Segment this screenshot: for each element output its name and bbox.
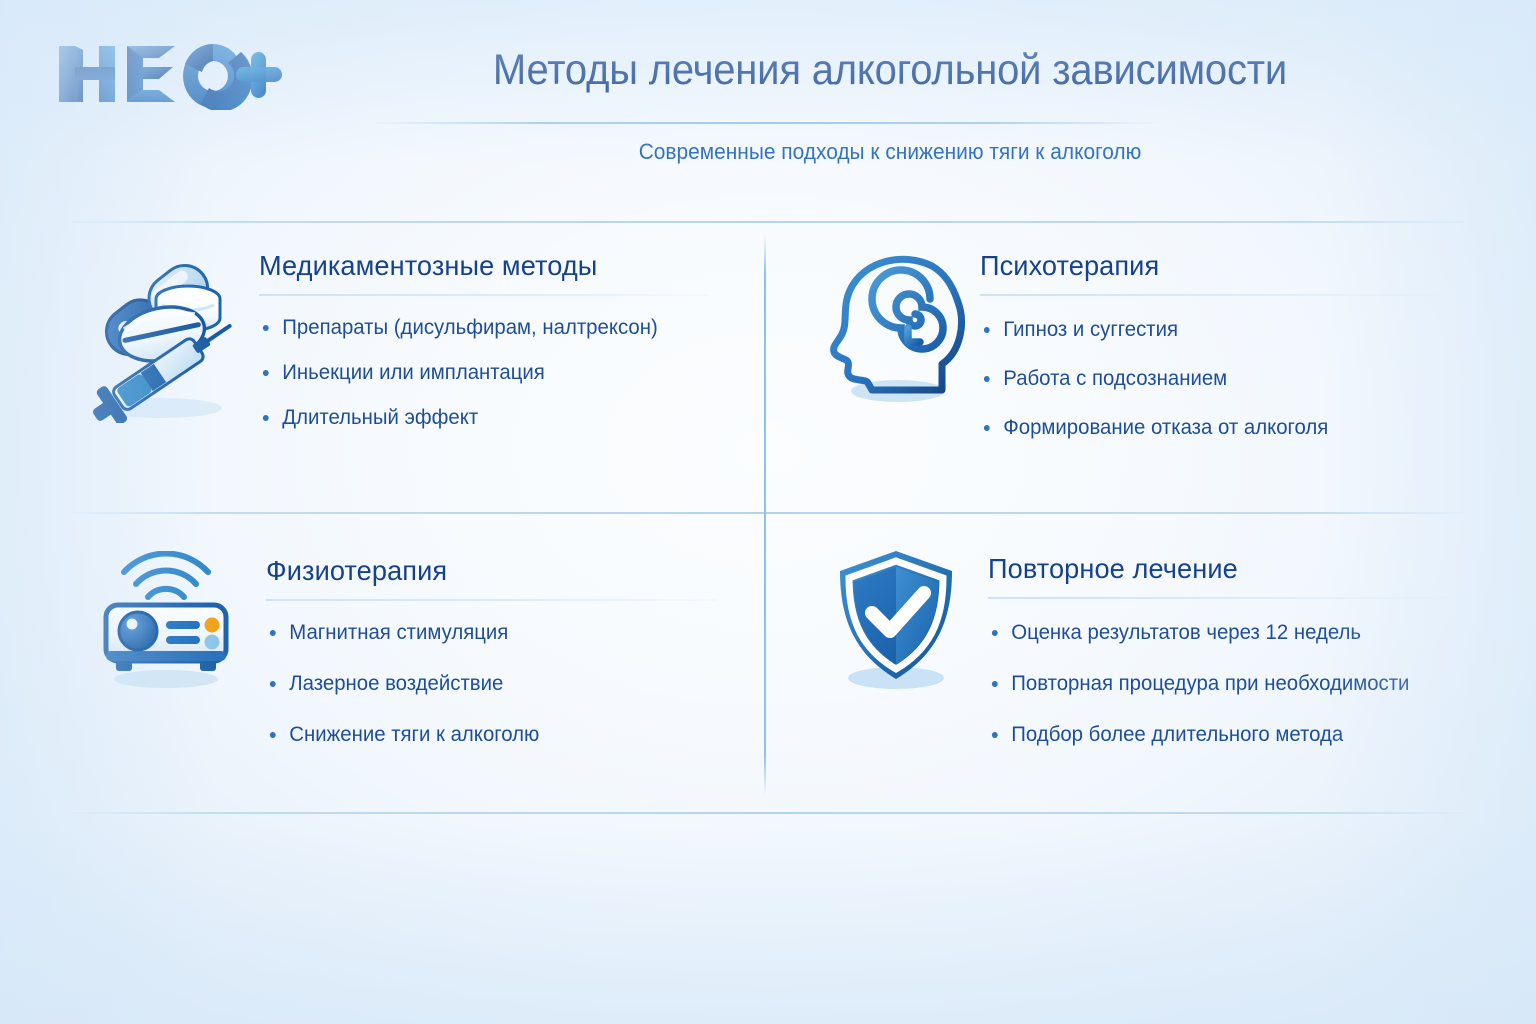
card-psychotherapy: Психотерапия Гипноз и суггестия Работа с… <box>800 248 1460 463</box>
page-title: Методы лечения алкогольной зависимости <box>341 42 1438 98</box>
therapy-device-icon <box>90 551 240 691</box>
card-repeat-treatment: Повторное лечение Оценка результатов чер… <box>800 545 1460 772</box>
neo-plus-logo <box>55 38 290 110</box>
status-dot-orange <box>205 618 220 633</box>
list-item: Повторная процедура при необходимости <box>988 670 1446 697</box>
card-physiotherapy: Физиотерапия Магнитная стимуляция Лазерн… <box>72 545 732 772</box>
card-title: Физиотерапия <box>266 553 718 589</box>
bullet-list: Гипноз и суггестия Работа с подсознанием… <box>980 316 1460 441</box>
list-item: Препараты (дисульфирам, налтрексон) <box>259 314 718 341</box>
shield-check-icon <box>822 545 972 700</box>
card-body: Повторное лечение Оценка результатов чер… <box>988 551 1460 772</box>
card-title-underline <box>266 599 716 601</box>
card-title-underline <box>988 597 1448 599</box>
status-dot-blue <box>205 635 220 650</box>
list-item: Снижение тяги к алкоголю <box>266 721 718 748</box>
card-title: Медикаментозные методы <box>259 248 718 284</box>
list-item: Формирование отказа от алкоголя <box>980 414 1446 441</box>
card-medication: Медикаментозные методы Препараты (дисуль… <box>72 248 732 449</box>
page-subtitle: Современные подходы к снижению тяги к ал… <box>330 136 1451 168</box>
infographic-poster: Методы лечения алкогольной зависимости С… <box>0 0 1536 1024</box>
card-title: Повторное лечение <box>988 551 1446 587</box>
divider-middle <box>72 512 1464 514</box>
divider-top <box>72 221 1464 223</box>
poster-header: Методы лечения алкогольной зависимости С… <box>0 0 1536 200</box>
divider-bottom <box>72 812 1464 814</box>
list-item: Работа с подсознанием <box>980 365 1446 392</box>
card-title-underline <box>980 294 1440 296</box>
title-divider <box>370 122 1160 124</box>
head-spiral-icon <box>820 248 970 413</box>
list-item: Лазерное воздействие <box>266 670 718 697</box>
list-item: Магнитная стимуляция <box>266 619 718 646</box>
bullet-list: Препараты (дисульфирам, налтрексон) Инье… <box>259 314 732 431</box>
list-item: Иньекции или имплантация <box>259 359 718 386</box>
card-body: Физиотерапия Магнитная стимуляция Лазерн… <box>266 553 732 772</box>
list-item: Оценка результатов через 12 недель <box>988 619 1446 646</box>
card-body: Медикаментозные методы Препараты (дисуль… <box>259 248 732 449</box>
card-body: Психотерапия Гипноз и суггестия Работа с… <box>980 248 1460 463</box>
list-item: Подбор более длительного метода <box>988 721 1446 748</box>
card-title-underline <box>259 294 709 296</box>
divider-vertical <box>764 235 766 795</box>
bullet-list: Оценка результатов через 12 недель Повто… <box>988 619 1460 748</box>
bullet-list: Магнитная стимуляция Лазерное воздействи… <box>266 619 732 748</box>
card-title: Психотерапия <box>980 248 1446 284</box>
list-item: Длительный эффект <box>259 404 718 431</box>
list-item: Гипноз и суггестия <box>980 316 1446 343</box>
pills-syringe-icon <box>80 248 245 423</box>
